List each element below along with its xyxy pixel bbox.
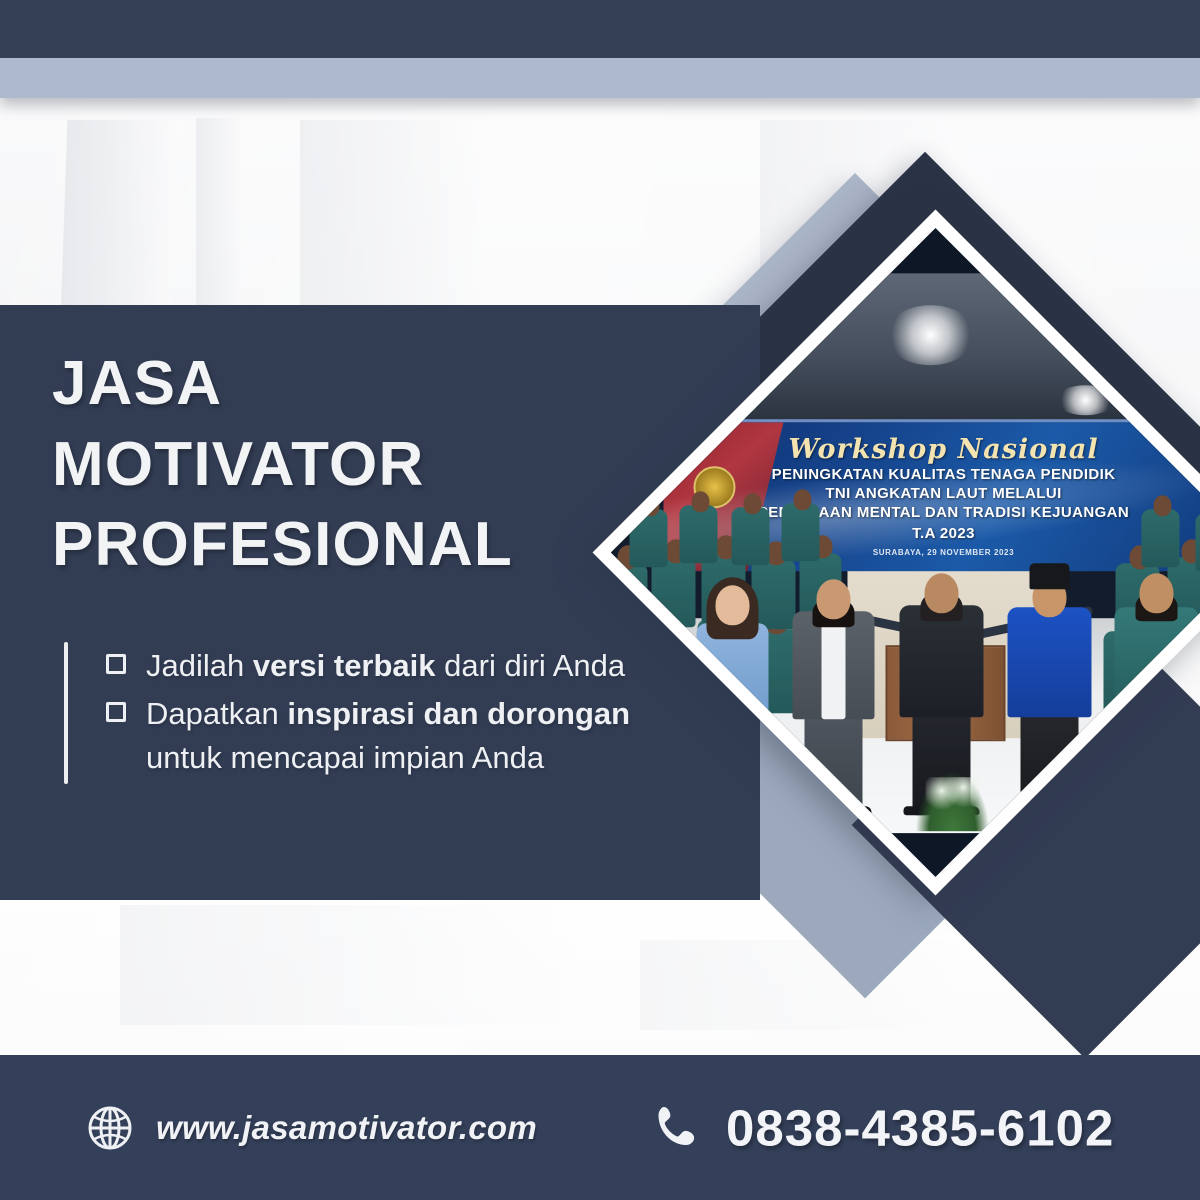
phone-icon [650, 1102, 702, 1154]
website-contact[interactable]: www.jasamotivator.com [86, 1104, 537, 1152]
list-item: Dapatkan inspirasi dan dorongan untuk me… [106, 692, 664, 780]
checkbox-square-icon [106, 702, 126, 722]
accent-rule [64, 642, 68, 784]
globe-icon [86, 1104, 134, 1152]
background-streak [640, 940, 970, 1030]
list-item: Jadilah versi terbaik dari diri Anda [106, 644, 664, 688]
phone-contact[interactable]: 0838-4385-6102 [650, 1098, 1114, 1157]
headline-line-2: MOTIVATOR [52, 425, 672, 506]
footer-bar: www.jasamotivator.com 0838-4385-6102 [0, 1055, 1200, 1200]
headline-line-3: PROFESIONAL [52, 505, 672, 586]
list-item-text: Jadilah versi terbaik dari diri Anda [146, 648, 625, 683]
page-title: JASA MOTIVATOR PROFESIONAL [52, 344, 672, 586]
banner-line-1: PENINGKATAN KUALITAS TENAGA PENDIDIK [664, 465, 1200, 484]
ceiling-light [1056, 385, 1116, 415]
banner-script-title: Workshop Nasional [664, 434, 1200, 465]
ceiling-light [886, 305, 976, 365]
background-streak [120, 905, 590, 1025]
list-item-text: Dapatkan inspirasi dan dorongan untuk me… [146, 696, 630, 775]
top-bar-dark [0, 0, 1200, 58]
benefits-list: Jadilah versi terbaik dari diri Anda Dap… [64, 642, 664, 784]
checkbox-square-icon [106, 654, 126, 674]
phone-number[interactable]: 0838-4385-6102 [726, 1098, 1114, 1157]
poster-canvas: JASA MOTIVATOR PROFESIONAL Jadilah versi… [0, 0, 1200, 1200]
top-bar-light [0, 58, 1200, 98]
potted-plant [916, 771, 990, 831]
headline-line-1: JASA [52, 344, 672, 425]
website-url[interactable]: www.jasamotivator.com [156, 1109, 537, 1147]
